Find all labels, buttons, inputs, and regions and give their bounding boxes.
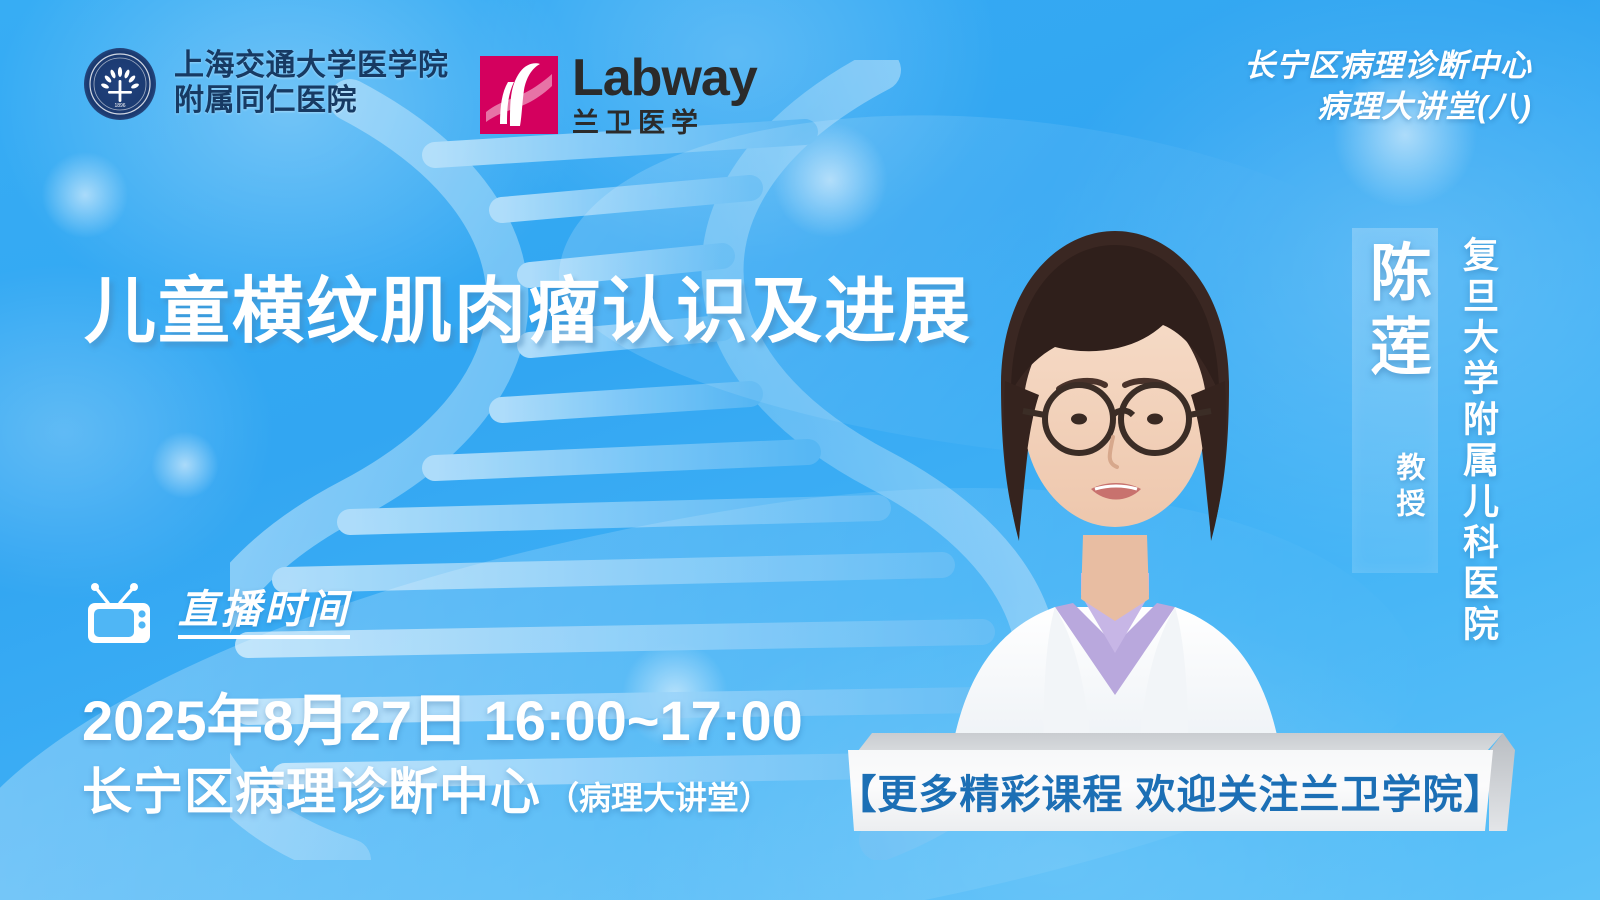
svg-text:1896: 1896 <box>114 103 125 109</box>
promo-banner-text: 【更多精彩课程 欢迎关注兰卫学院】 <box>848 750 1493 831</box>
labway-name-cn: 兰卫医学 <box>572 110 757 137</box>
labway-swoosh-icon <box>480 56 558 134</box>
live-venue-note: （病理大讲堂） <box>547 773 771 819</box>
live-datetime: 2025年8月27日 16:00~17:00 <box>82 676 803 757</box>
labway-wordmark: Labway 兰卫医学 <box>572 52 757 137</box>
live-venue-main: 长宁区病理诊断中心 <box>82 752 541 824</box>
speaker-portrait <box>905 175 1325 815</box>
series-label: 长宁区病理诊断中心 病理大讲堂(八) <box>1244 46 1532 128</box>
hospital-name: 上海交通大学医学院 附属同仁医院 <box>174 49 449 119</box>
live-time-header: 直播时间 <box>86 583 350 645</box>
labway-logo: Labway 兰卫医学 <box>480 52 757 137</box>
webinar-poster: 1896 上海交通大学医学院 附属同仁医院 Labway 兰卫医学 长宁区病理诊… <box>0 0 1600 900</box>
speaker-organization: 复旦大学附属儿科医院 <box>1452 236 1504 646</box>
hospital-branding: 1896 上海交通大学医学院 附属同仁医院 <box>84 48 449 120</box>
bokeh-dot <box>40 150 130 240</box>
hospital-name-line1: 上海交通大学医学院 <box>174 49 449 84</box>
labway-name-en: Labway <box>572 52 757 104</box>
promo-banner-top-face <box>858 733 1503 751</box>
hospital-name-line2: 附属同仁医院 <box>174 84 449 119</box>
speaker-title: 教授 <box>1368 452 1426 524</box>
series-line2: 病理大讲堂(八) <box>1244 87 1532 128</box>
live-time-label: 直播时间 <box>178 589 350 639</box>
promo-banner: 【更多精彩课程 欢迎关注兰卫学院】 <box>848 733 1513 831</box>
sjtu-seal-icon: 1896 <box>84 48 156 120</box>
page-title: 儿童横纹肌肉瘤认识及进展 <box>84 252 972 357</box>
bokeh-dot <box>150 430 220 500</box>
tv-icon <box>86 583 152 645</box>
speaker-name: 陈莲 <box>1356 240 1434 388</box>
series-line1: 长宁区病理诊断中心 <box>1244 46 1532 87</box>
live-venue: 长宁区病理诊断中心 （病理大讲堂） <box>82 752 771 824</box>
